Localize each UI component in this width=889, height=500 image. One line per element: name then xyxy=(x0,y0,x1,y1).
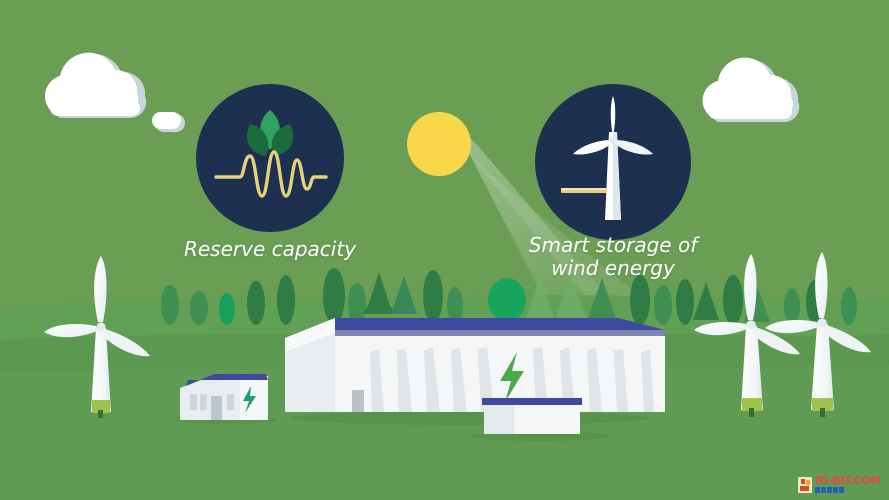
watermark-logo-icon xyxy=(798,477,812,493)
wind-turbine-far-right[interactable] xyxy=(765,252,871,417)
illustration-canvas: Reserve capacity Smart storage of wind e… xyxy=(0,0,889,500)
turbines-layer xyxy=(0,0,889,500)
watermark-main-text: IG-BIT.COM xyxy=(815,475,881,486)
watermark-sub-text xyxy=(815,487,881,495)
wind-turbine-mid-right[interactable] xyxy=(694,254,800,417)
wind-turbine-left[interactable] xyxy=(44,256,150,418)
ig-bit-watermark: IG-BIT.COM xyxy=(796,474,883,496)
